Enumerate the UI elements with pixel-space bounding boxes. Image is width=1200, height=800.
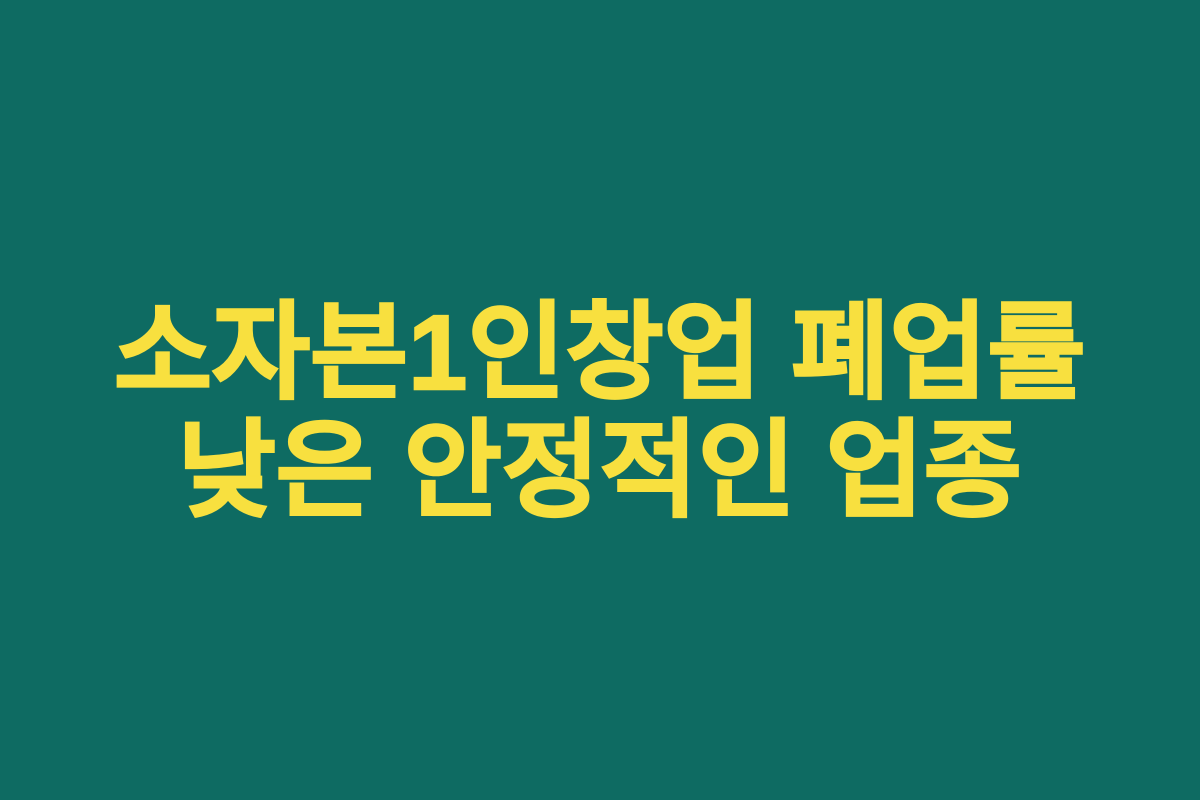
headline-line-1: 소자본1인창업 폐업률 <box>114 294 1086 412</box>
headline-block: 소자본1인창업 폐업률 낮은 안정적인 업종 <box>0 294 1200 530</box>
headline-line-2: 낮은 안정적인 업종 <box>178 412 1022 530</box>
poster-canvas: 소자본1인창업 폐업률 낮은 안정적인 업종 <box>0 0 1200 800</box>
